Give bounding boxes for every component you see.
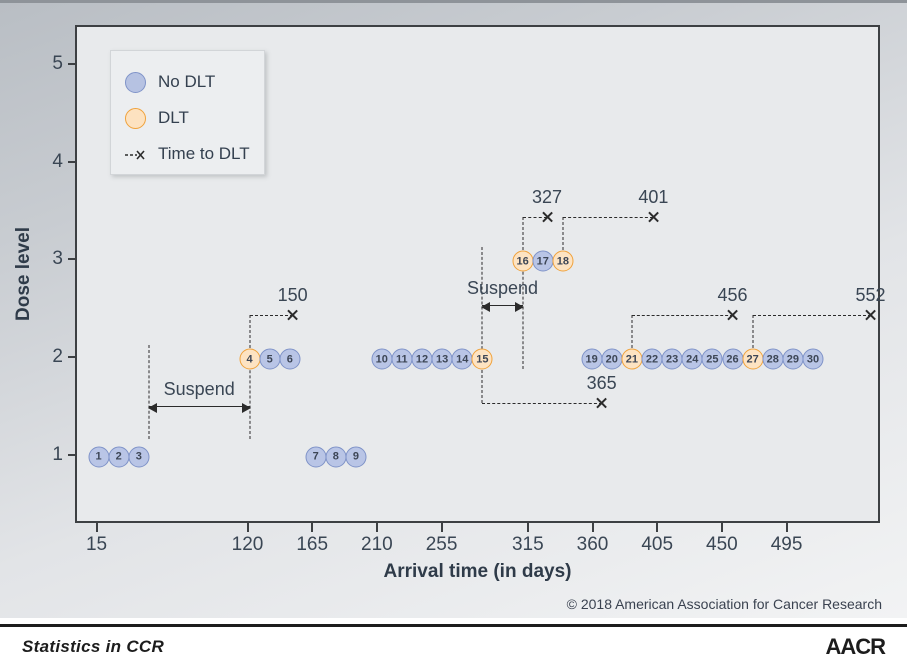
y-tick: [68, 454, 75, 456]
x-tick: [247, 523, 249, 532]
suspend-label: Suspend: [164, 379, 235, 400]
patient-point-20[interactable]: 20: [601, 349, 622, 370]
x-tick-label: 15: [86, 534, 107, 556]
patient-point-12[interactable]: 12: [412, 349, 433, 370]
x-tick-label: 210: [361, 534, 393, 556]
time-to-dlt-value-label: 150: [278, 285, 308, 306]
no-dlt-marker-icon: [125, 72, 146, 93]
legend-item-dlt: DLT: [125, 100, 264, 136]
patient-point-30[interactable]: 30: [803, 349, 824, 370]
plot-area: No DLT DLT Time to DLT: [75, 25, 880, 523]
legend-label-time-to-dlt: Time to DLT: [158, 144, 250, 164]
time-to-dlt-horizontal: [753, 315, 871, 316]
y-tick: [68, 63, 75, 65]
legend-item-time-to-dlt: Time to DLT: [125, 136, 264, 172]
legend-label-dlt: DLT: [158, 108, 189, 128]
x-tick-label: 450: [706, 534, 738, 556]
time-to-dlt-value-label: 456: [717, 285, 747, 306]
figure-frame: Dose level 12345 No DLT DLT: [0, 0, 907, 618]
legend-item-no-dlt: No DLT: [125, 64, 264, 100]
time-to-dlt-vertical: [249, 315, 250, 348]
time-to-dlt-horizontal: [482, 403, 601, 404]
patient-point-23[interactable]: 23: [662, 349, 683, 370]
y-tick: [68, 356, 75, 358]
x-tick: [376, 523, 378, 532]
patient-point-4[interactable]: 4: [239, 349, 260, 370]
time-to-dlt-vertical: [522, 217, 523, 250]
patient-point-26[interactable]: 26: [722, 349, 743, 370]
x-tick: [527, 523, 529, 532]
copyright-text: © 2018 American Association for Cancer R…: [567, 596, 882, 612]
suspend-boundary-line: [148, 345, 149, 439]
time-to-dlt-vertical: [482, 370, 483, 403]
time-to-dlt-endpoint-icon: [595, 396, 608, 409]
patient-point-7[interactable]: 7: [305, 446, 326, 467]
patient-point-28[interactable]: 28: [762, 349, 783, 370]
time-to-dlt-endpoint-icon: [864, 309, 877, 322]
time-to-dlt-marker-icon: [125, 144, 146, 165]
time-to-dlt-value-label: 552: [855, 285, 885, 306]
x-tick: [721, 523, 723, 532]
patient-point-21[interactable]: 21: [621, 349, 642, 370]
time-to-dlt-vertical: [752, 315, 753, 348]
y-axis-title-wrap: Dose level: [28, 25, 32, 523]
patient-point-8[interactable]: 8: [325, 446, 346, 467]
legend-label-no-dlt: No DLT: [158, 72, 215, 92]
y-tick: [68, 161, 75, 163]
time-to-dlt-value-label: 401: [638, 187, 668, 208]
x-tick: [656, 523, 658, 532]
patient-point-22[interactable]: 22: [642, 349, 663, 370]
time-to-dlt-endpoint-icon: [286, 309, 299, 322]
x-tick-label: 120: [232, 534, 264, 556]
patient-point-15[interactable]: 15: [472, 349, 493, 370]
patient-point-5[interactable]: 5: [259, 349, 280, 370]
y-tick-label: 4: [52, 151, 63, 173]
patient-point-13[interactable]: 13: [432, 349, 453, 370]
x-tick-label: 495: [771, 534, 803, 556]
patient-point-1[interactable]: 1: [88, 446, 109, 467]
patient-point-11[interactable]: 11: [391, 349, 412, 370]
patient-point-6[interactable]: 6: [279, 349, 300, 370]
x-axis-title: Arrival time (in days): [75, 561, 880, 583]
x-tick-label: 360: [577, 534, 609, 556]
x-tick: [441, 523, 443, 532]
aacr-logo: AACR: [825, 634, 885, 660]
x-axis: 15120165210255315360405450495: [75, 523, 880, 563]
time-to-dlt-value-label: 365: [587, 373, 617, 394]
patient-point-2[interactable]: 2: [108, 446, 129, 467]
footer-bar: Statistics in CCR AACR: [0, 624, 907, 667]
patient-point-17[interactable]: 17: [532, 251, 553, 272]
footer-series-title: Statistics in CCR: [22, 637, 164, 657]
patient-point-10[interactable]: 10: [371, 349, 392, 370]
x-tick-label: 405: [641, 534, 673, 556]
x-tick: [592, 523, 594, 532]
y-tick-label: 3: [52, 248, 63, 270]
patient-point-29[interactable]: 29: [782, 349, 803, 370]
x-tick-label: 255: [426, 534, 458, 556]
time-to-dlt-endpoint-icon: [541, 211, 554, 224]
y-tick-label: 5: [52, 53, 63, 75]
patient-point-14[interactable]: 14: [452, 349, 473, 370]
time-to-dlt-vertical: [631, 315, 632, 348]
patient-point-24[interactable]: 24: [682, 349, 703, 370]
patient-point-27[interactable]: 27: [742, 349, 763, 370]
suspend-arrow: [149, 406, 250, 407]
time-to-dlt-value-label: 327: [532, 187, 562, 208]
x-tick-label: 165: [296, 534, 328, 556]
time-to-dlt-vertical: [562, 217, 563, 250]
patient-point-16[interactable]: 16: [512, 251, 533, 272]
patient-point-3[interactable]: 3: [128, 446, 149, 467]
time-to-dlt-endpoint-icon: [647, 211, 660, 224]
time-to-dlt-horizontal: [632, 315, 733, 316]
y-axis-title: Dose level: [13, 227, 35, 321]
dlt-marker-icon: [125, 108, 146, 129]
patient-point-9[interactable]: 9: [345, 446, 366, 467]
y-tick: [68, 258, 75, 260]
x-tick-label: 315: [512, 534, 544, 556]
x-tick: [311, 523, 313, 532]
patient-point-19[interactable]: 19: [581, 349, 602, 370]
y-tick-label: 1: [52, 444, 63, 466]
patient-point-18[interactable]: 18: [552, 251, 573, 272]
suspend-arrow: [482, 305, 522, 306]
legend: No DLT DLT Time to DLT: [110, 50, 265, 175]
time-to-dlt-horizontal: [563, 217, 654, 218]
patient-point-25[interactable]: 25: [702, 349, 723, 370]
x-tick: [96, 523, 98, 532]
time-to-dlt-endpoint-icon: [726, 309, 739, 322]
x-tick: [786, 523, 788, 532]
figure-container: Dose level 12345 No DLT DLT: [0, 0, 907, 667]
suspend-label: Suspend: [467, 278, 538, 299]
y-tick-label: 2: [52, 346, 63, 368]
